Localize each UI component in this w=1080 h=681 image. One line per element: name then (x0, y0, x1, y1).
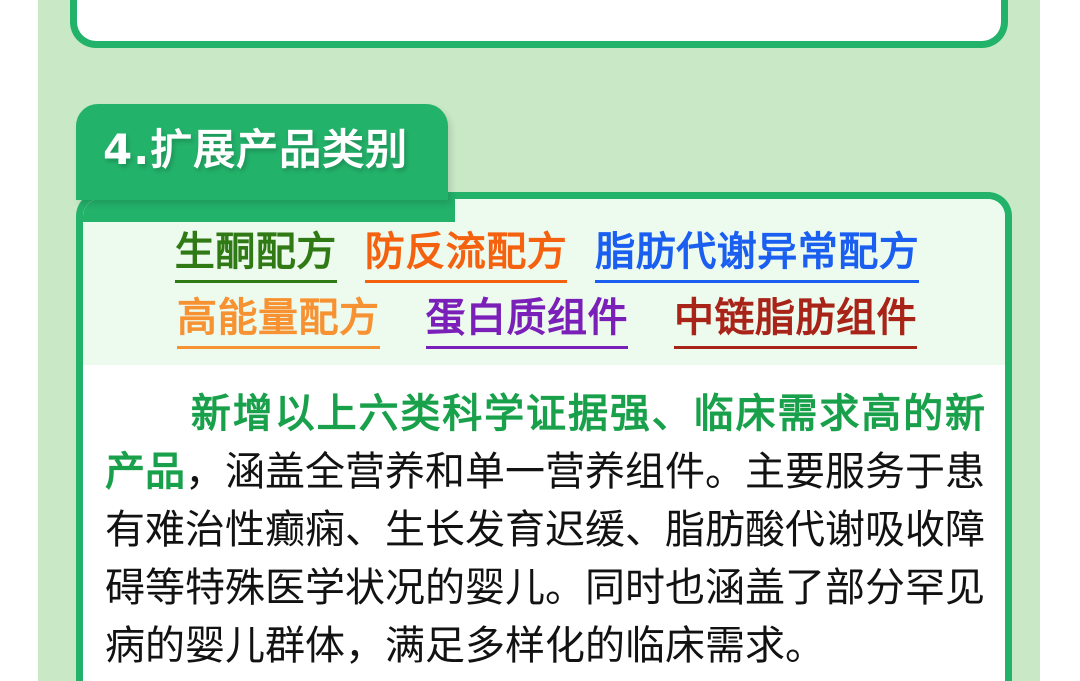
section-body-card: 生酮配方 防反流配方 脂肪代谢异常配方 高能量配方 蛋白质组件 中链脂肪组件 新… (76, 192, 1012, 681)
keyword-tag-high-energy-formula[interactable]: 高能量配方 (177, 293, 380, 349)
section-4-expanded-product-categories: 4.扩展产品类别 生酮配方 防反流配方 脂肪代谢异常配方 高能量配方 蛋白质组件… (76, 104, 1012, 681)
keyword-tag-protein-module[interactable]: 蛋白质组件 (426, 293, 629, 349)
keyword-tag-anti-reflux-formula[interactable]: 防反流配方 (365, 227, 568, 283)
page-root: 4.扩展产品类别 生酮配方 防反流配方 脂肪代谢异常配方 高能量配方 蛋白质组件… (0, 0, 1080, 681)
section-header-title: 4.扩展产品类别 (103, 120, 408, 180)
section-header-tab: 4.扩展产品类别 (76, 104, 448, 200)
keyword-tag-panel: 生酮配方 防反流配方 脂肪代谢异常配方 高能量配方 蛋白质组件 中链脂肪组件 (83, 199, 1005, 365)
keyword-tag-fat-metabolism-disorder-formula[interactable]: 脂肪代谢异常配方 (595, 227, 919, 283)
paragraph-rest: ，涵盖全营养和单一营养组件。主要服务于患有难治性癫痫、生长发育迟缓、脂肪酸代谢吸… (105, 449, 985, 669)
keyword-tag-ketogenic-formula[interactable]: 生酮配方 (175, 227, 337, 283)
section-body-paragraph: 新增以上六类科学证据强、临床需求高的新产品，涵盖全营养和单一营养组件。主要服务于… (83, 365, 1005, 675)
keyword-tag-row-1: 生酮配方 防反流配方 脂肪代谢异常配方 (83, 227, 1005, 283)
keyword-tag-mct-module[interactable]: 中链脂肪组件 (674, 293, 917, 349)
previous-section-card-fragment (70, 0, 1008, 48)
keyword-tag-row-2: 高能量配方 蛋白质组件 中链脂肪组件 (83, 293, 1005, 349)
